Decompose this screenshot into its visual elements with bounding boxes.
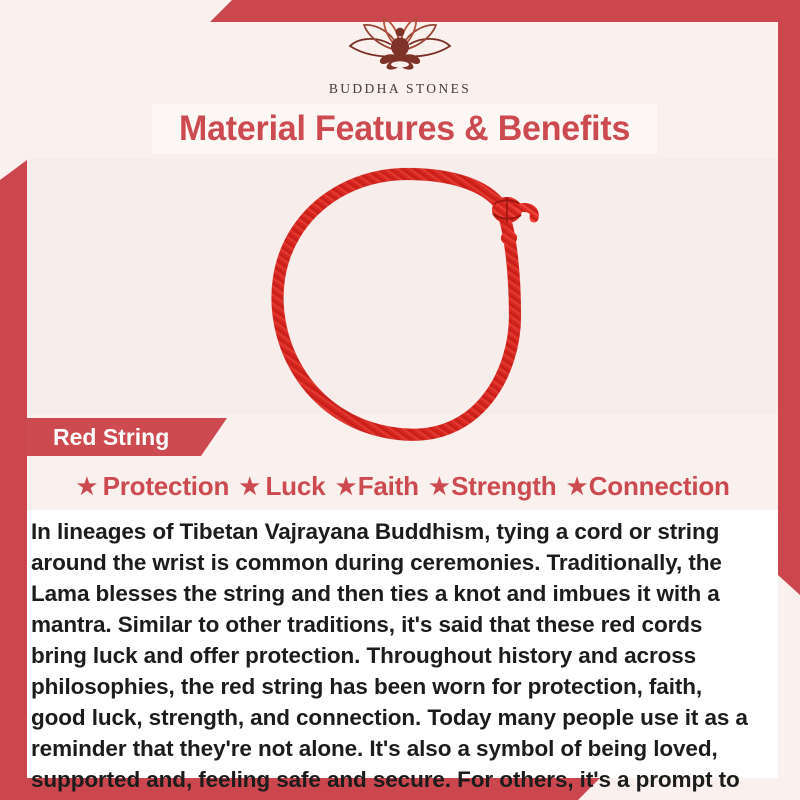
feature-strength: ★ Strength — [419, 471, 557, 502]
feature-faith: ★ Faith — [325, 471, 418, 502]
decor-left-red-strip — [0, 160, 27, 800]
feature-connection: ★ Connection — [556, 471, 729, 502]
page-title: Material Features & Benefits — [179, 109, 630, 149]
star-icon: ★ — [334, 473, 357, 499]
feature-label: Faith — [358, 471, 419, 502]
feature-label: Strength — [451, 471, 556, 502]
star-icon: ★ — [565, 473, 588, 499]
product-tag-banner: Red String — [27, 418, 227, 456]
description-paragraph: In lineages of Tibetan Vajrayana Buddhis… — [27, 516, 760, 800]
hero-panel — [27, 158, 778, 414]
features-row: ★ Protection ★ Luck ★ Faith ★ Strength ★… — [27, 462, 778, 510]
title-band: Material Features & Benefits — [152, 104, 657, 154]
description-panel: In lineages of Tibetan Vajrayana Buddhis… — [27, 510, 778, 778]
feature-luck: ★ Luck — [229, 471, 325, 502]
star-icon: ★ — [75, 473, 98, 499]
product-tag-label: Red String — [53, 424, 169, 451]
feature-label: Protection — [103, 471, 230, 502]
feature-protection: ★ Protection — [75, 471, 229, 502]
brand-logo: BUDDHA STONES — [0, 16, 800, 102]
star-icon: ★ — [238, 473, 261, 499]
lotus-meditation-icon — [336, 16, 464, 78]
feature-label: Connection — [589, 471, 730, 502]
infographic-page: BUDDHA STONES Material Features & Benefi… — [0, 0, 800, 800]
brand-wordmark: BUDDHA STONES — [329, 81, 471, 97]
star-icon: ★ — [428, 473, 451, 499]
feature-label: Luck — [265, 471, 325, 502]
product-image — [253, 166, 553, 446]
red-braided-string-bracelet-icon — [253, 166, 553, 446]
